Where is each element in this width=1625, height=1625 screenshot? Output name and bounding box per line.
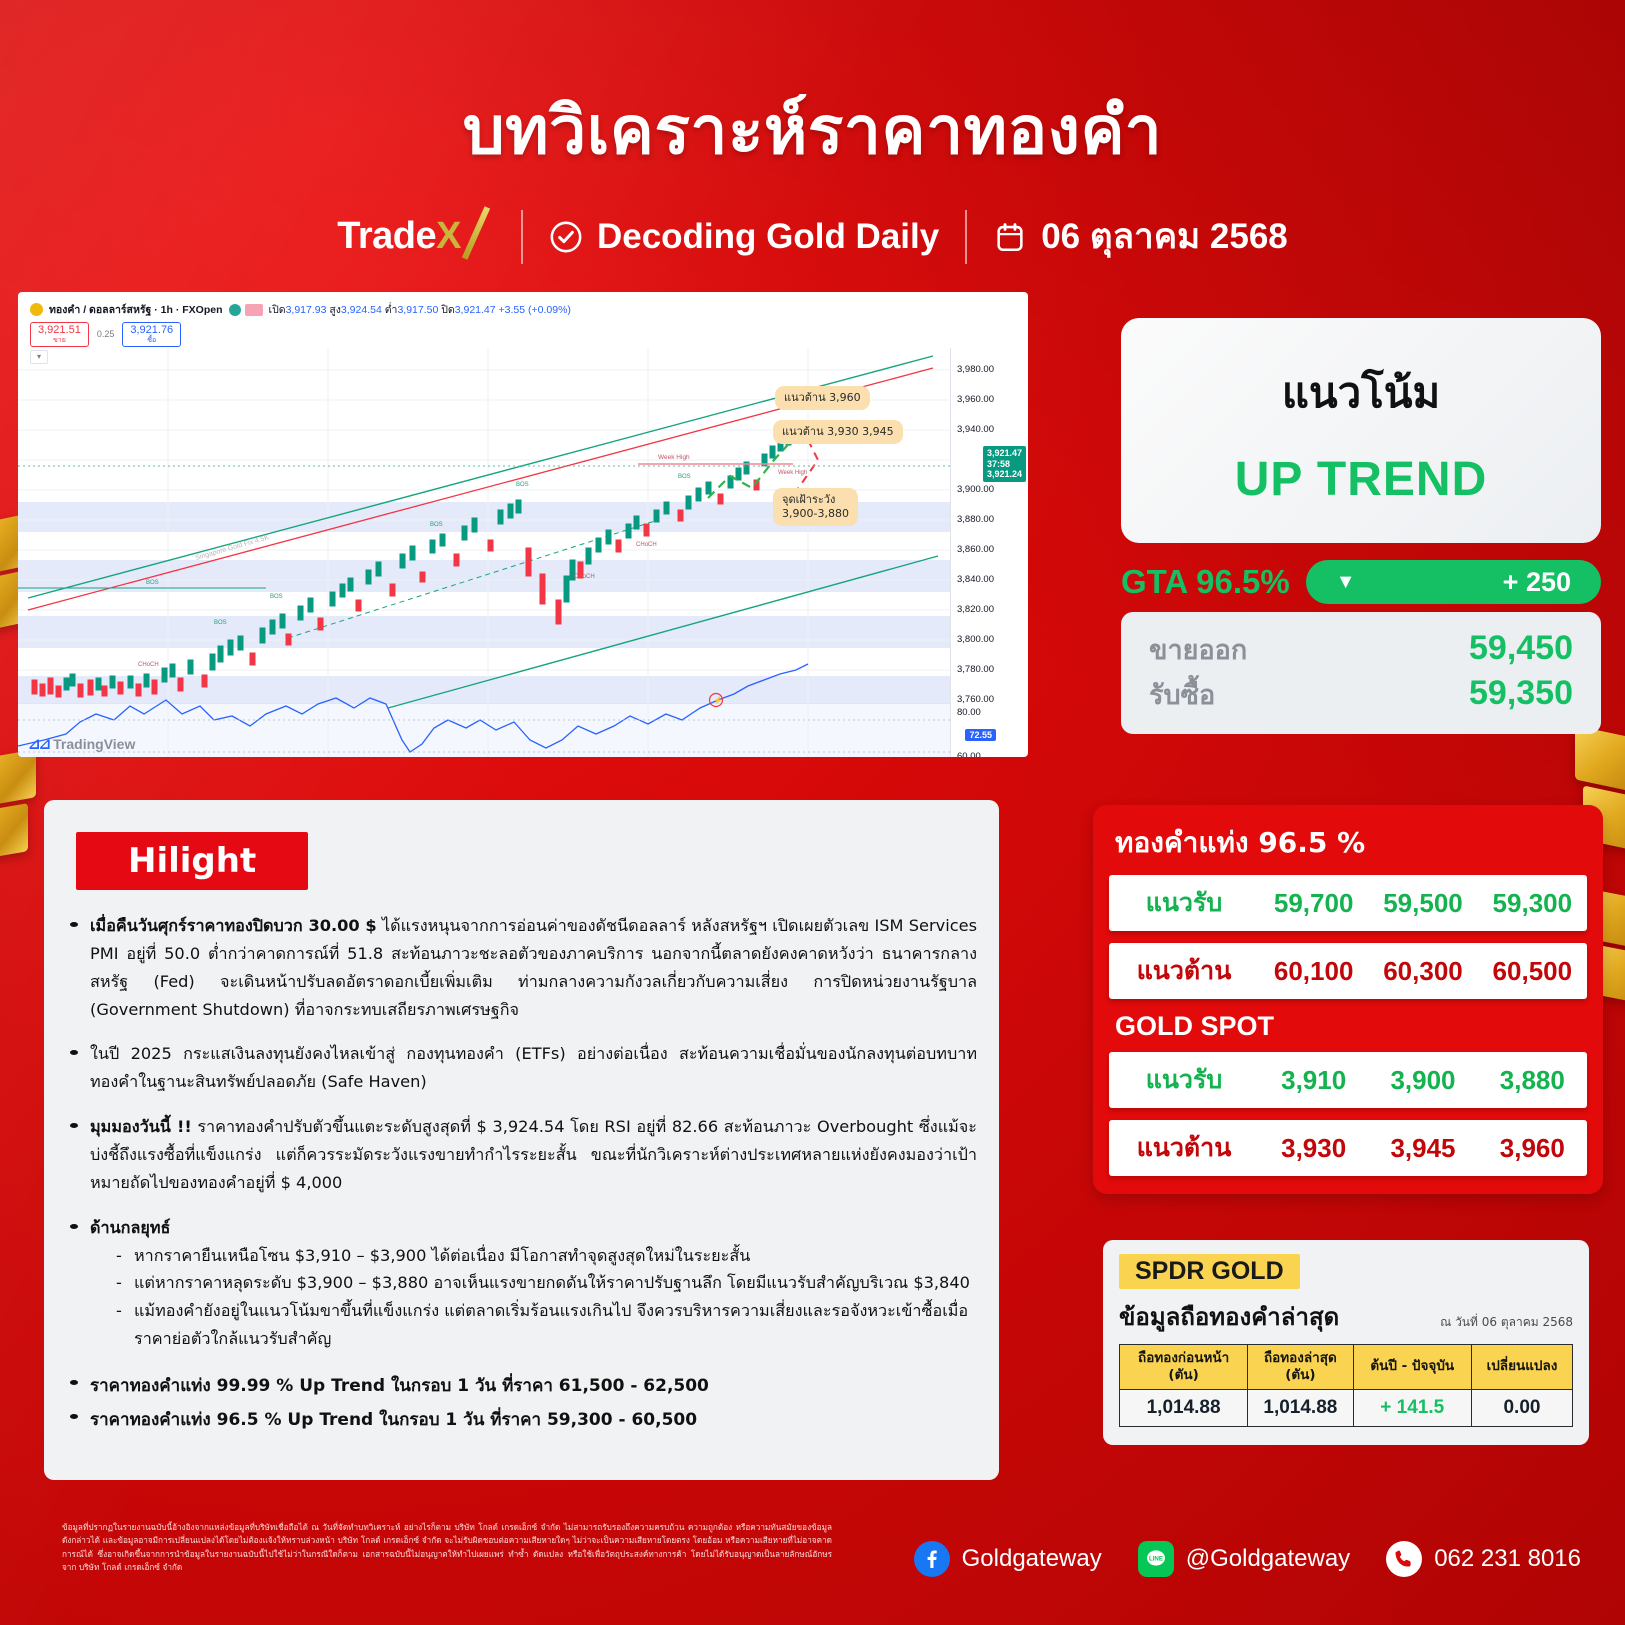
chart-note-resistance-3930-3945: แนวต้าน 3,930 3,945 bbox=[773, 420, 903, 444]
bullet-3-bold: มุมมองวันนี้ !! bbox=[90, 1117, 192, 1136]
ohlc-low-label: ต่ำ bbox=[385, 304, 398, 316]
spot-resistance-v2: 3,945 bbox=[1368, 1133, 1477, 1164]
price-tick-3980: 3,980.00 bbox=[957, 364, 994, 375]
table-row: แนวต้าน 60,100 60,300 60,500 bbox=[1109, 943, 1587, 999]
spot-support-v1: 3,910 bbox=[1259, 1065, 1368, 1096]
rsi-tick-60: 60.00 bbox=[957, 751, 981, 757]
ohlc-open-label: เปิด bbox=[269, 304, 286, 316]
gold-support-label: แนวรับ bbox=[1109, 883, 1259, 923]
tradingview-label: TradingView bbox=[53, 736, 135, 752]
social-phone[interactable]: 062 231 8016 bbox=[1386, 1541, 1581, 1577]
gold-bar-title: ทองคำแท่ง 96.5 % bbox=[1115, 821, 1587, 865]
bullet-1-bold: เมื่อคืนวันศุกร์ราคาทองปิดบวก 30.00 $ bbox=[90, 916, 377, 935]
price-tick-3900: 3,900.00 bbox=[957, 484, 994, 495]
table-row: แนวรับ 3,910 3,900 3,880 bbox=[1109, 1052, 1587, 1108]
bullet-3-rest: ราคาทองคำปรับตัวขึ้นแตะระดับสูงสุดที่ $ … bbox=[90, 1117, 977, 1192]
tagline-text: Decoding Gold Daily bbox=[597, 217, 939, 257]
chart-symbol[interactable]: ทองคำ / ดอลลาร์สหรัฐ · 1h · FXOpen bbox=[49, 301, 223, 318]
brand-name: Trade bbox=[337, 215, 436, 257]
svg-text:CHoCH: CHoCH bbox=[138, 662, 159, 668]
gold-support-v2: 59,500 bbox=[1368, 888, 1477, 919]
spot-resistance-v3: 3,960 bbox=[1478, 1133, 1587, 1164]
chart-plot-area[interactable]: Week High Week High BOS BOS BOS BOS BOS … bbox=[18, 348, 1028, 757]
gold-resistance-label: แนวต้าน bbox=[1109, 951, 1259, 991]
gta-change-value: + 250 bbox=[1503, 567, 1571, 598]
table-row: 1,014.88 1,014.88 + 141.5 0.00 bbox=[1120, 1389, 1573, 1426]
strategy-item-2: แต่หากราคาหลุดระดับ $3,900 – $3,880 อาจเ… bbox=[134, 1269, 970, 1297]
svg-text:BOS: BOS bbox=[430, 522, 443, 528]
ohlc-close-value: 3,921.47 bbox=[455, 304, 496, 316]
hilight-panel: Hilight เมื่อคืนวันศุกร์ราคาทองปิดบวก 30… bbox=[44, 800, 999, 1480]
header-divider-1 bbox=[521, 210, 523, 264]
bullet-text-1: เมื่อคืนวันศุกร์ราคาทองปิดบวก 30.00 $ ได… bbox=[90, 912, 977, 1023]
spdr-col-4: เปลี่ยนแปลง bbox=[1471, 1345, 1572, 1390]
rate-row-buy: รับซื้อ 59,350 bbox=[1149, 673, 1573, 716]
header-date: 06 ตุลาคม 2568 bbox=[993, 209, 1288, 264]
spdr-val-1: 1,014.88 bbox=[1120, 1389, 1248, 1426]
svg-text:Week High: Week High bbox=[658, 454, 690, 461]
page-title: บทวิเคราะห์ราคาทองคำ bbox=[0, 78, 1625, 183]
svg-text:CHoCH: CHoCH bbox=[574, 574, 595, 580]
strategy-item-1: หากราคายืนเหนือโซน $3,910 – $3,900 ได้ต่… bbox=[134, 1242, 750, 1270]
last-price-timer: 37:58 bbox=[987, 459, 1022, 470]
status-dot-icon bbox=[229, 304, 241, 316]
ask-label: ขาย bbox=[38, 337, 81, 344]
spot-resistance-v1: 3,930 bbox=[1259, 1133, 1368, 1164]
facebook-icon bbox=[914, 1541, 950, 1577]
list-item: ในปี 2025 กระแสเงินลงทุนยังคงไหลเข้าสู่ … bbox=[70, 1040, 977, 1096]
bullet-dot-icon bbox=[70, 922, 78, 927]
rate-sell-value: 59,450 bbox=[1469, 629, 1573, 668]
brand-logo: TradeX bbox=[337, 215, 495, 258]
trend-label: แนวโน้ม bbox=[1121, 318, 1601, 426]
list-item: เมื่อคืนวันศุกร์ราคาทองปิดบวก 30.00 $ ได… bbox=[70, 912, 977, 1023]
spdr-col-2: ถือทองล่าสุด (ตัน) bbox=[1248, 1345, 1353, 1390]
ask-box[interactable]: 3,921.51 ขาย bbox=[30, 322, 89, 347]
line-icon: LINE bbox=[1138, 1541, 1174, 1577]
ohlc-low-value: 3,917.50 bbox=[397, 304, 438, 316]
spot-support-label: แนวรับ bbox=[1109, 1060, 1259, 1100]
price-tick-3960: 3,960.00 bbox=[957, 394, 994, 405]
list-item: -หากราคายืนเหนือโซน $3,910 – $3,900 ได้ต… bbox=[116, 1242, 977, 1270]
strategy-item-3: แม้ทองคำยังอยู่ในแนวโน้มขาขึ้นที่แข็งแกร… bbox=[134, 1297, 977, 1353]
spread-value: 0.25 bbox=[97, 329, 115, 339]
strategy-title-text: ด้านกลยุทธ์ bbox=[90, 1218, 170, 1237]
ohlc-change: +3.55 (+0.09%) bbox=[499, 304, 571, 316]
gold-resistance-v1: 60,100 bbox=[1259, 956, 1368, 987]
bid-box[interactable]: 3,921.76 ซื้อ bbox=[122, 322, 181, 347]
facebook-label: Goldgateway bbox=[962, 1545, 1102, 1573]
ohlc-high-label: สูง bbox=[329, 304, 341, 316]
list-item: มุมมองวันนี้ !! ราคาทองคำปรับตัวขึ้นแตะร… bbox=[70, 1113, 977, 1197]
gold-spot-title: GOLD SPOT bbox=[1115, 1011, 1587, 1042]
list-item: ราคาทองคำแท่ง 96.5 % Up Trend ในกรอบ 1 ว… bbox=[70, 1404, 977, 1436]
svg-text:BOS: BOS bbox=[270, 594, 283, 600]
gold-support-v1: 59,700 bbox=[1259, 888, 1368, 919]
tail-text-2: ราคาทองคำแท่ง 96.5 % Up Trend ในกรอบ 1 ว… bbox=[90, 1404, 697, 1436]
spdr-heading: ข้อมูลถือทองคำล่าสุด bbox=[1119, 1297, 1339, 1336]
svg-text:BOS: BOS bbox=[214, 620, 227, 626]
spdr-val-4: 0.00 bbox=[1471, 1389, 1572, 1426]
dash-icon: - bbox=[116, 1297, 126, 1353]
rsi-value-badge: 72.55 bbox=[965, 729, 996, 741]
spdr-col-1: ถือทองก่อนหน้า (ตัน) bbox=[1120, 1345, 1248, 1390]
list-item: -แม้ทองคำยังอยู่ในแนวโน้มขาขึ้นที่แข็งแก… bbox=[116, 1297, 977, 1353]
bullet-text-2: ในปี 2025 กระแสเงินลงทุนยังคงไหลเข้าสู่ … bbox=[90, 1040, 977, 1096]
list-item: ราคาทองคำแท่ง 99.99 % Up Trend ในกรอบ 1 … bbox=[70, 1370, 977, 1402]
svg-text:CHoCH: CHoCH bbox=[636, 542, 657, 548]
dash-icon: - bbox=[116, 1269, 126, 1297]
bullet-dot-icon bbox=[70, 1224, 78, 1229]
strategy-title: ด้านกลยุทธ์ bbox=[90, 1214, 977, 1242]
last-price-value: 3,921.47 bbox=[987, 448, 1022, 459]
spdr-date: ณ วันที่ 06 ตุลาคม 2568 bbox=[1440, 1313, 1573, 1336]
last-bid-value: 3,921.24 bbox=[987, 469, 1022, 480]
spdr-table: ถือทองก่อนหน้า (ตัน) ถือทองล่าสุด (ตัน) … bbox=[1119, 1344, 1573, 1427]
svg-text:BOS: BOS bbox=[516, 482, 529, 488]
price-tick-3880: 3,880.00 bbox=[957, 514, 994, 525]
tradingview-chart-card[interactable]: ทองคำ / ดอลลาร์สหรัฐ · 1h · FXOpen เปิด3… bbox=[18, 292, 1028, 757]
bullet-text-3: มุมมองวันนี้ !! ราคาทองคำปรับตัวขึ้นแตะร… bbox=[90, 1113, 977, 1197]
social-links: Goldgateway LINE @Goldgateway 062 231 80… bbox=[914, 1541, 1581, 1577]
social-line[interactable]: LINE @Goldgateway bbox=[1138, 1541, 1350, 1577]
svg-text:Week High: Week High bbox=[778, 470, 807, 476]
hilight-badge: Hilight bbox=[76, 832, 308, 890]
svg-text:LINE: LINE bbox=[1149, 1555, 1163, 1562]
gold-resistance-v2: 60,300 bbox=[1368, 956, 1477, 987]
header-subbar: TradeX Decoding Gold Daily 06 ตุลาคม 256… bbox=[0, 209, 1625, 264]
ohlc-high-value: 3,924.54 bbox=[341, 304, 382, 316]
gta-rates-card: ขายออก 59,450 รับซื้อ 59,350 bbox=[1121, 612, 1601, 734]
rate-buy-value: 59,350 bbox=[1469, 674, 1573, 713]
chart-svg: Week High Week High BOS BOS BOS BOS BOS … bbox=[18, 348, 1028, 757]
gold-bar-table-card: ทองคำแท่ง 96.5 % แนวรับ 59,700 59,500 59… bbox=[1093, 805, 1603, 1194]
bid-ask-strip: 3,921.51 ขาย 0.25 3,921.76 ซื้อ bbox=[18, 318, 1028, 347]
brand-slash-icon bbox=[462, 206, 490, 260]
replay-badge-icon bbox=[245, 304, 263, 316]
phone-label: 062 231 8016 bbox=[1434, 1545, 1581, 1573]
strategy-list: -หากราคายืนเหนือโซน $3,910 – $3,900 ได้ต… bbox=[116, 1242, 977, 1353]
strategy-block: ด้านกลยุทธ์ -หากราคายืนเหนือโซน $3,910 –… bbox=[70, 1214, 977, 1353]
hilight-body: เมื่อคืนวันศุกร์ราคาทองปิดบวก 30.00 $ ได… bbox=[70, 912, 977, 1454]
spot-support-v2: 3,900 bbox=[1368, 1065, 1477, 1096]
svg-text:⚡: ⚡ bbox=[713, 695, 723, 705]
ask-value: 3,921.51 bbox=[38, 324, 81, 336]
spdr-badge: SPDR GOLD bbox=[1119, 1254, 1300, 1289]
ohlc-readout: เปิด3,917.93 สูง3,924.54 ต่ำ3,917.50 ปิด… bbox=[269, 301, 571, 318]
gta-label: GTA 96.5% bbox=[1121, 563, 1290, 601]
check-circle-icon bbox=[549, 220, 583, 254]
ohlc-open-value: 3,917.93 bbox=[286, 304, 327, 316]
table-row: แนวต้าน 3,930 3,945 3,960 bbox=[1109, 1120, 1587, 1176]
triangle-down-icon: ▼ bbox=[1336, 571, 1356, 594]
brand-x: X bbox=[436, 215, 461, 258]
price-axis: 3,980.00 3,960.00 3,940.00 3,900.00 3,88… bbox=[950, 348, 1028, 703]
social-facebook[interactable]: Goldgateway bbox=[914, 1541, 1102, 1577]
rate-sell-label: ขายออก bbox=[1149, 628, 1247, 671]
price-tick-3820: 3,820.00 bbox=[957, 604, 994, 615]
bullet-dot-icon bbox=[70, 1414, 78, 1419]
price-tick-3860: 3,860.00 bbox=[957, 544, 994, 555]
phone-icon bbox=[1386, 1541, 1422, 1577]
spdr-col-3: ต้นปี - ปัจจุบัน bbox=[1353, 1345, 1471, 1390]
dash-icon: - bbox=[116, 1242, 126, 1270]
bullet-dot-icon bbox=[70, 1123, 78, 1128]
ohlc-close-label: ปิด bbox=[441, 304, 454, 316]
chart-indicator-badges bbox=[229, 304, 263, 316]
header-tagline: Decoding Gold Daily bbox=[549, 217, 939, 257]
price-tick-3840: 3,840.00 bbox=[957, 574, 994, 585]
gta-row: GTA 96.5% ▼ + 250 bbox=[1121, 560, 1601, 604]
rate-row-sell: ขายออก 59,450 bbox=[1149, 628, 1573, 671]
page-footer: ข้อมูลที่ปรากฏในรายงานฉบับนี้อ้างอิงจากแ… bbox=[0, 1507, 1625, 1625]
page-header: บทวิเคราะห์ราคาทองคำ TradeX Decoding Gol… bbox=[0, 0, 1625, 292]
spot-support-v3: 3,880 bbox=[1478, 1065, 1587, 1096]
price-tick-3800: 3,800.00 bbox=[957, 634, 994, 645]
gold-support-v3: 59,300 bbox=[1478, 888, 1587, 919]
last-price-badge: 3,921.47 37:58 3,921.24 bbox=[983, 446, 1026, 482]
rsi-tick-80: 80.00 bbox=[957, 707, 981, 718]
svg-text:BOS: BOS bbox=[678, 474, 691, 480]
trend-value: UP TREND bbox=[1121, 452, 1601, 507]
bullet-dot-icon bbox=[70, 1050, 78, 1055]
symbol-icon bbox=[30, 303, 43, 316]
price-tick-3940: 3,940.00 bbox=[957, 424, 994, 435]
spdr-gold-card: SPDR GOLD ข้อมูลถือทองคำล่าสุด ณ วันที่ … bbox=[1103, 1240, 1589, 1445]
tradingview-watermark: ⊿⊿ TradingView bbox=[28, 735, 135, 753]
spot-resistance-label: แนวต้าน bbox=[1109, 1128, 1259, 1168]
date-text: 06 ตุลาคม 2568 bbox=[1041, 209, 1288, 264]
tradingview-logo-icon: ⊿⊿ bbox=[28, 735, 49, 753]
rate-buy-label: รับซื้อ bbox=[1149, 673, 1215, 716]
svg-text:BOS: BOS bbox=[146, 580, 159, 586]
gold-resistance-v3: 60,500 bbox=[1478, 956, 1587, 987]
bid-label: ซื้อ bbox=[130, 337, 173, 344]
line-label: @Goldgateway bbox=[1186, 1545, 1350, 1573]
chart-header: ทองคำ / ดอลลาร์สหรัฐ · 1h · FXOpen เปิด3… bbox=[18, 292, 1028, 318]
header-divider-2 bbox=[965, 210, 967, 264]
table-row: แนวรับ 59,700 59,500 59,300 bbox=[1109, 875, 1587, 931]
price-tick-3780: 3,780.00 bbox=[957, 664, 994, 675]
gta-change-pill: ▼ + 250 bbox=[1306, 560, 1601, 604]
spdr-val-3: + 141.5 bbox=[1353, 1389, 1471, 1426]
tail-text-1: ราคาทองคำแท่ง 99.99 % Up Trend ในกรอบ 1 … bbox=[90, 1370, 709, 1402]
chart-note-resistance-3960: แนวต้าน 3,960 bbox=[775, 386, 870, 410]
bullet-dot-icon bbox=[70, 1380, 78, 1385]
trend-card: แนวโน้ม UP TREND bbox=[1121, 318, 1601, 543]
spdr-heading-row: ข้อมูลถือทองคำล่าสุด ณ วันที่ 06 ตุลาคม … bbox=[1119, 1297, 1573, 1336]
bid-value: 3,921.76 bbox=[130, 324, 173, 336]
list-item: -แต่หากราคาหลุดระดับ $3,900 – $3,880 อาจ… bbox=[116, 1269, 977, 1297]
disclaimer-text: ข้อมูลที่ปรากฏในรายงานฉบับนี้อ้างอิงจากแ… bbox=[62, 1521, 832, 1574]
table-header-row: ถือทองก่อนหน้า (ตัน) ถือทองล่าสุด (ตัน) … bbox=[1120, 1345, 1573, 1390]
spdr-val-2: 1,014.88 bbox=[1248, 1389, 1353, 1426]
chart-note-watch-zone: จุดเฝ้าระวัง 3,900-3,880 bbox=[773, 488, 858, 526]
calendar-icon bbox=[993, 220, 1027, 254]
